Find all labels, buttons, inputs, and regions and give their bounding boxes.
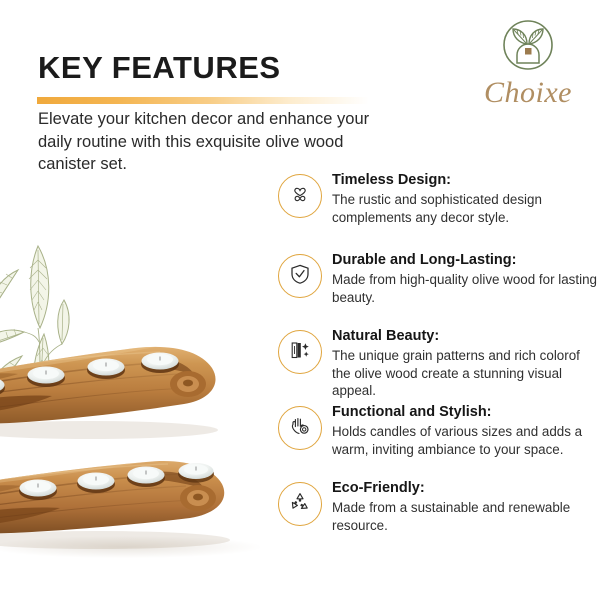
heart-infinity-icon [288, 182, 312, 211]
leaf-house-circle-icon [474, 14, 582, 81]
feature-icon-badge [278, 174, 322, 218]
header: KEY FEATURES Elevate your kitchen decor … [0, 0, 600, 180]
feature-text-block: Natural Beauty: The unique grain pattern… [322, 328, 600, 400]
product-shadow [0, 536, 260, 558]
feature-item-natural-beauty: Natural Beauty: The unique grain pattern… [278, 328, 600, 400]
feature-item-functional-stylish: Functional and Stylish: Holds candles of… [278, 404, 600, 458]
feature-text-block: Functional and Stylish: Holds candles of… [322, 404, 600, 458]
subtitle-text: Elevate your kitchen decor and enhance y… [38, 108, 383, 176]
brand-wordmark: Choixe [474, 77, 582, 109]
page-title: KEY FEATURES [38, 52, 281, 83]
feature-description: The rustic and sophisticated design comp… [332, 191, 600, 227]
feature-title: Functional and Stylish: [332, 404, 600, 422]
brand-logo: Choixe [474, 14, 582, 109]
key-features-infographic: KEY FEATURES Elevate your kitchen decor … [0, 0, 600, 600]
feature-item-timeless-design: Timeless Design: The rustic and sophisti… [278, 172, 600, 226]
feature-item-durable-long-lasting: Durable and Long-Lasting: Made from high… [278, 252, 600, 306]
feature-text-block: Durable and Long-Lasting: Made from high… [322, 252, 600, 306]
feature-title: Timeless Design: [332, 172, 600, 190]
feature-title: Eco-Friendly: [332, 480, 600, 498]
feature-title: Natural Beauty: [332, 328, 600, 346]
feature-title: Durable and Long-Lasting: [332, 252, 600, 270]
olive-wood-candle-holders-illustration [0, 328, 280, 563]
feature-description: Made from a sustainable and renewable re… [332, 499, 600, 535]
title-divider [37, 97, 369, 104]
feature-description: The unique grain patterns and rich color… [332, 347, 600, 400]
feature-description: Holds candles of various sizes and adds … [332, 423, 600, 459]
product-image [0, 236, 300, 536]
feature-description: Made from high-quality olive wood for la… [332, 271, 600, 307]
feature-item-eco-friendly: Eco-Friendly: Made from a sustainable an… [278, 480, 600, 534]
feature-text-block: Eco-Friendly: Made from a sustainable an… [322, 480, 600, 534]
feature-text-block: Timeless Design: The rustic and sophisti… [322, 172, 600, 226]
